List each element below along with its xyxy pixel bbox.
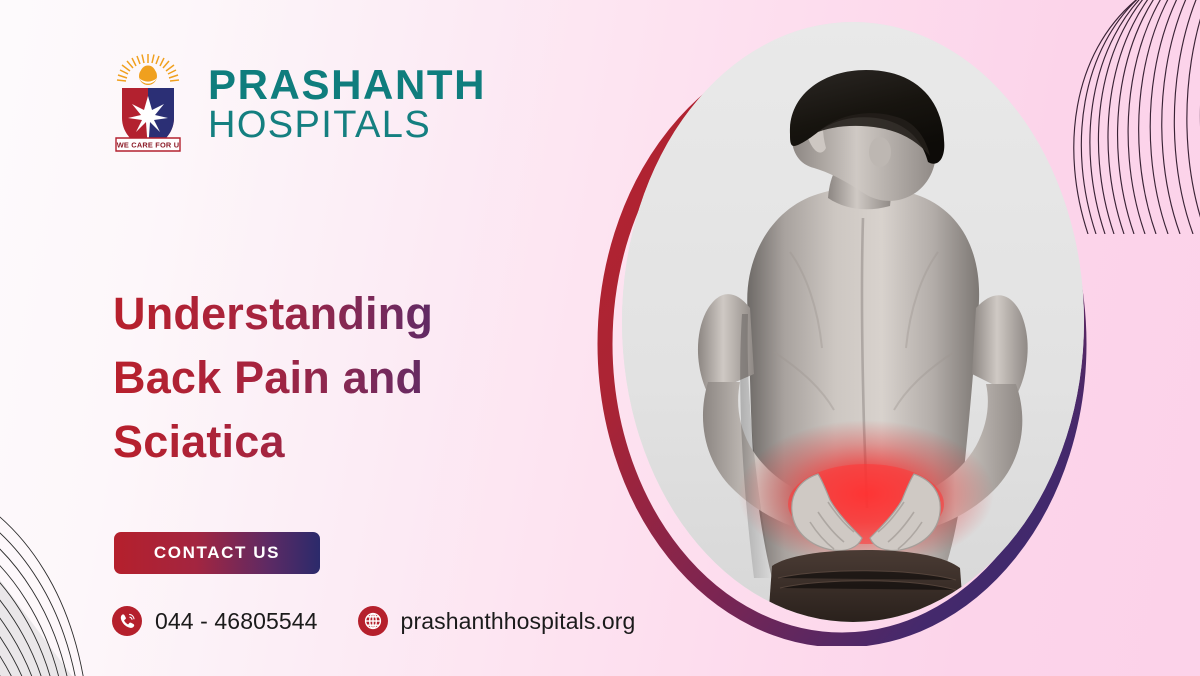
- promo-banner: WE CARE FOR U PRASHANTH HOSPITALS Unders…: [0, 0, 1200, 676]
- brand-logo[interactable]: WE CARE FOR U PRASHANTH HOSPITALS: [110, 52, 486, 156]
- shield-star-sun-logo: WE CARE FOR U: [110, 52, 186, 156]
- contact-us-button[interactable]: CONTACT US: [114, 532, 320, 574]
- phone-icon: [112, 606, 142, 636]
- tagline-ribbon: WE CARE FOR U: [116, 138, 180, 151]
- phone-number: 044 - 46805544: [155, 608, 318, 635]
- headline-line-1: Understanding: [113, 282, 583, 346]
- contact-row: 044 - 46805544 prashanthhospitals.org: [112, 606, 635, 636]
- phone-contact[interactable]: 044 - 46805544: [112, 606, 318, 636]
- back-pain-photo: [622, 22, 1084, 622]
- page-title: Understanding Back Pain and Sciatica: [113, 282, 583, 474]
- sun-rays-icon: [117, 54, 179, 85]
- svg-text:WE CARE FOR U: WE CARE FOR U: [117, 141, 180, 150]
- hero-media: [596, 22, 1102, 646]
- headline-line-2: Back Pain and: [113, 346, 583, 410]
- website-contact[interactable]: prashanthhospitals.org: [358, 606, 636, 636]
- globe-icon: [358, 606, 388, 636]
- headline-line-3: Sciatica: [113, 410, 583, 474]
- brand-name-secondary: HOSPITALS: [208, 107, 486, 143]
- brand-name-primary: PRASHANTH: [208, 65, 486, 105]
- photo-illustration: [622, 22, 1084, 622]
